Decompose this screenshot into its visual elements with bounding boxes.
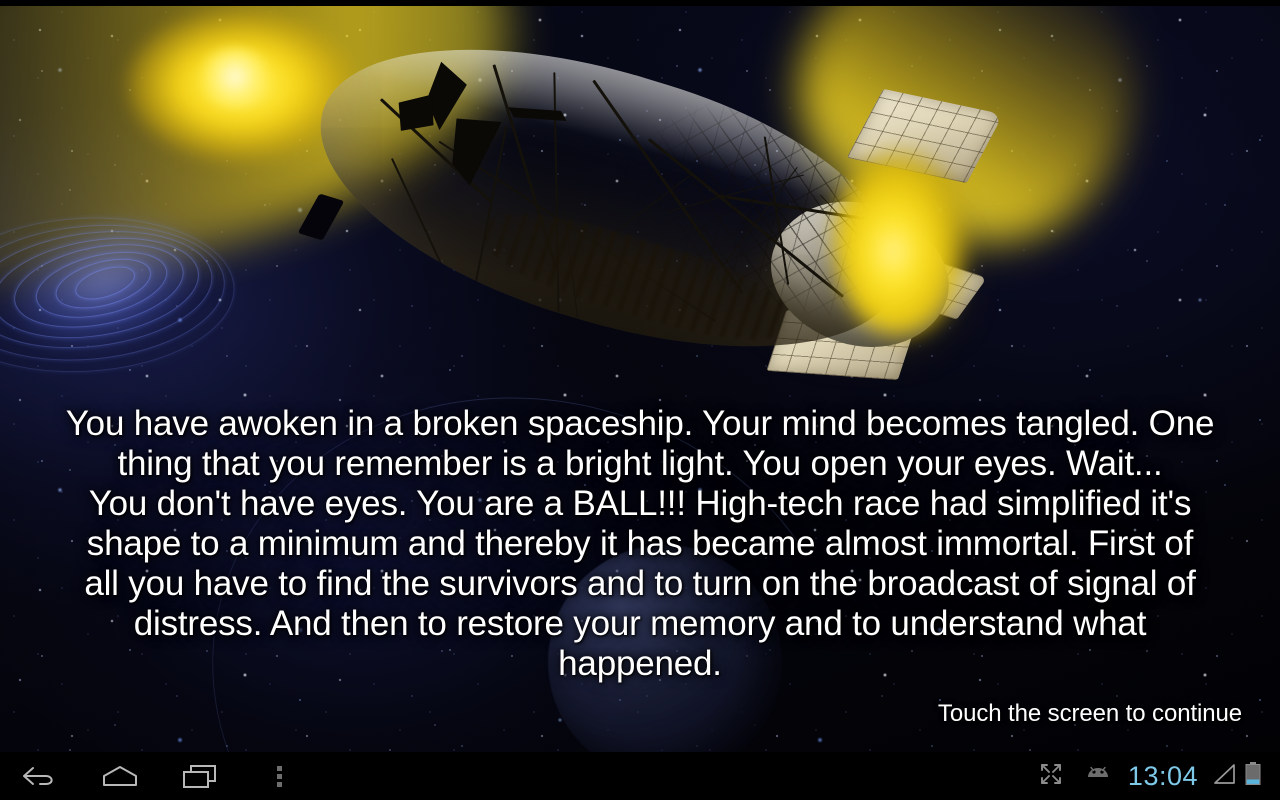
nav-menu-button[interactable] xyxy=(240,752,320,800)
ship-hull-breach xyxy=(298,194,345,241)
nav-back-button[interactable] xyxy=(0,752,80,800)
story-line: happened. xyxy=(0,644,1280,684)
signal-status[interactable] xyxy=(1206,752,1242,800)
fullscreen-expand-icon xyxy=(1039,762,1063,791)
game-screen[interactable]: You have awoken in a broken spaceship. Y… xyxy=(0,0,1280,800)
battery-status[interactable] xyxy=(1242,752,1270,800)
android-system-bar: 13:04 xyxy=(0,752,1280,800)
story-line: thing that you remember is a bright ligh… xyxy=(0,444,1280,484)
status-icon-group: 13:04 xyxy=(1028,752,1270,800)
letterbox-edge xyxy=(0,0,1280,6)
broken-spaceship xyxy=(300,45,1000,390)
usb-debug-status[interactable] xyxy=(1074,752,1122,800)
touch-to-continue-hint[interactable]: Touch the screen to continue xyxy=(938,699,1242,729)
signal-triangle-icon xyxy=(1212,762,1238,791)
story-line: all you have to find the survivors and t… xyxy=(0,564,1280,604)
status-clock[interactable]: 13:04 xyxy=(1122,752,1206,800)
story-line: distress. And then to restore your memor… xyxy=(0,604,1280,644)
overflow-menu-icon xyxy=(273,762,287,790)
story-text: You have awoken in a broken spaceship. Y… xyxy=(0,404,1280,684)
recents-icon xyxy=(179,763,221,789)
engine-core-glow xyxy=(834,150,966,335)
galaxy-ring xyxy=(0,210,238,380)
fullscreen-button[interactable] xyxy=(1028,752,1074,800)
story-line: You don't have eyes. You are a BALL!!! H… xyxy=(0,484,1280,524)
battery-icon xyxy=(1244,761,1262,792)
android-robot-icon xyxy=(1085,765,1111,788)
navigation-button-group xyxy=(0,752,320,800)
back-arrow-icon xyxy=(20,763,60,789)
nav-home-button[interactable] xyxy=(80,752,160,800)
home-icon xyxy=(98,763,142,789)
comet-highlight xyxy=(196,48,274,106)
nav-recents-button[interactable] xyxy=(160,752,240,800)
story-line: You have awoken in a broken spaceship. Y… xyxy=(0,404,1280,444)
story-line: shape to a minimum and thereby it has be… xyxy=(0,524,1280,564)
